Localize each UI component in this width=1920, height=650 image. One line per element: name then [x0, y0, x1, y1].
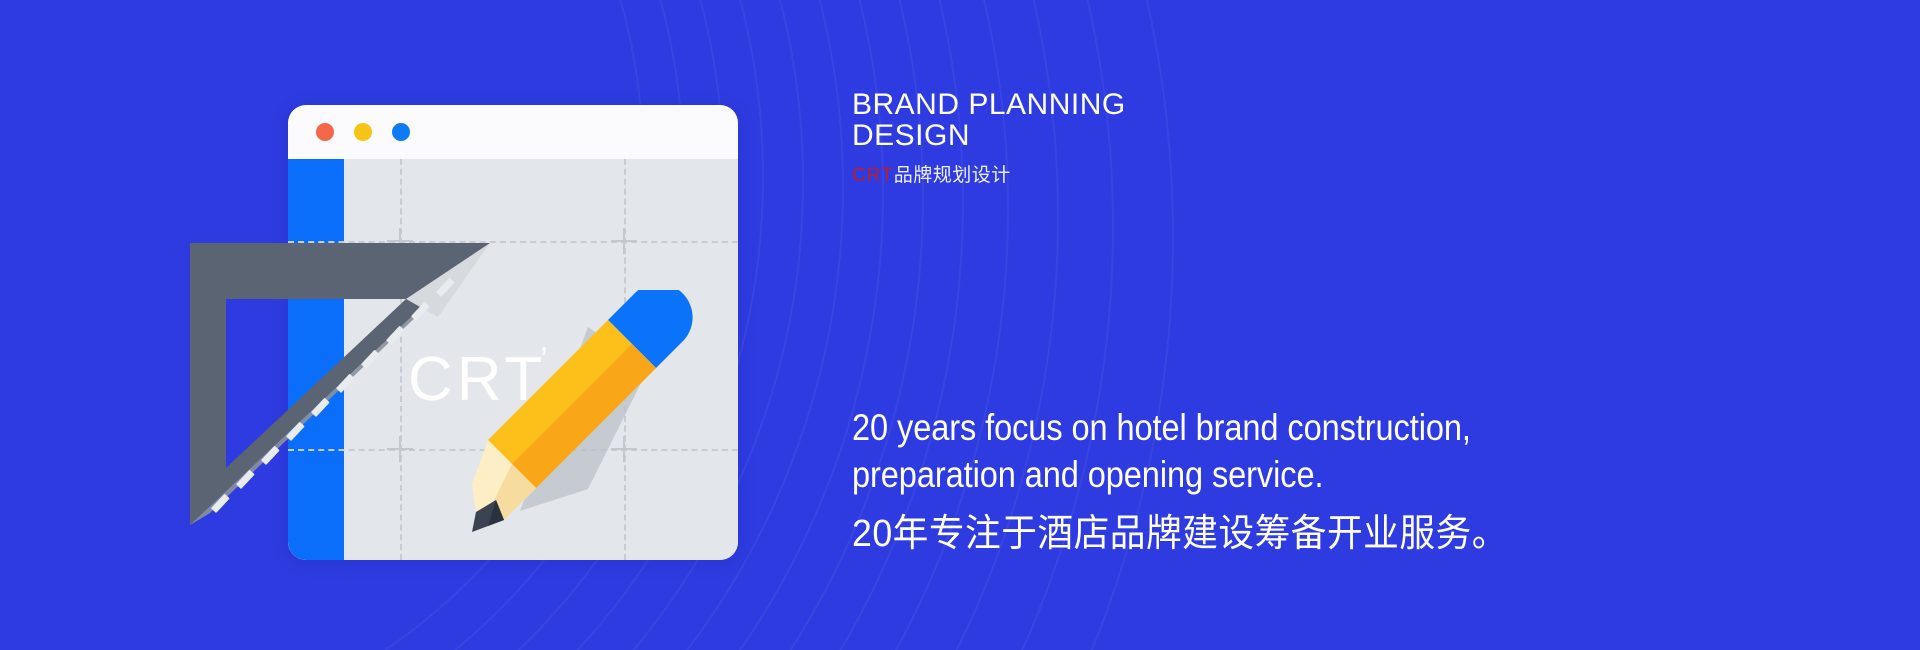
tagline-chinese: 20年专注于酒店品牌建设筹备开业服务。 [852, 512, 1632, 558]
hero-illustration: CRTʼ [170, 80, 790, 580]
brand-banner: CRTʼ [0, 0, 1920, 650]
close-dot-icon[interactable] [316, 123, 334, 141]
tagline-block: 20 years focus on hotel brand constructi… [852, 405, 1682, 558]
headline-brand-crt: CRT [852, 165, 894, 186]
headline-english: BRAND PLANNING DESIGN [852, 90, 1552, 152]
headline-chinese-line: CRT品牌规划设计 [852, 160, 1552, 187]
tagline-english: 20 years focus on hotel brand constructi… [852, 405, 1582, 498]
set-square-ruler-icon [170, 225, 510, 525]
maximize-dot-icon[interactable] [392, 123, 410, 141]
pencil-icon [470, 290, 700, 550]
minimize-dot-icon[interactable] [354, 123, 372, 141]
headline-chinese: 品牌规划设计 [894, 165, 1011, 186]
window-titlebar [288, 105, 738, 159]
headline-block: BRAND PLANNING DESIGN CRT品牌规划设计 [852, 90, 1552, 187]
